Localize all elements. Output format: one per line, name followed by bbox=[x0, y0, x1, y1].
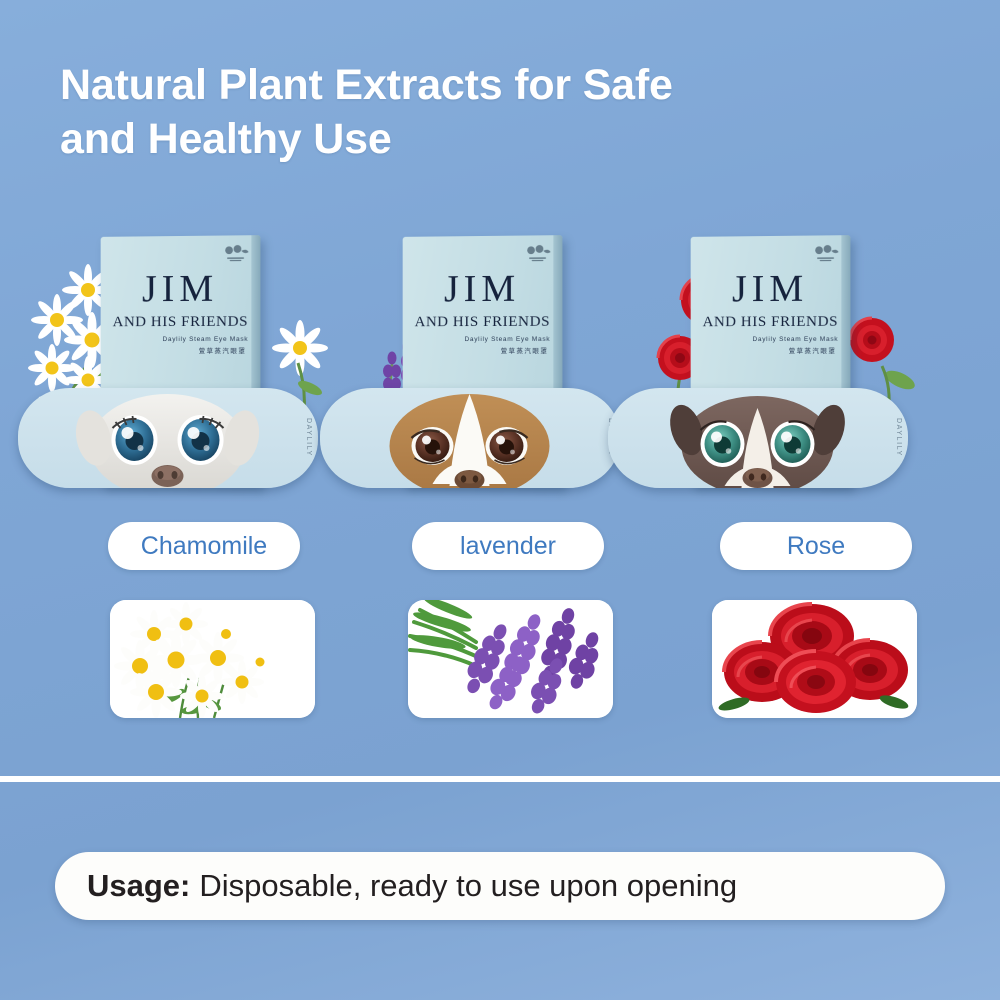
package-subtitle: AND HIS FRIENDS bbox=[101, 314, 261, 332]
ingredient-card-lavender bbox=[408, 600, 613, 718]
package-product-line-cn: 萱草蒸汽眼罩 bbox=[101, 345, 247, 355]
product-card-rose: JIM AND HIS FRIENDS Daylily Steam Eye Ma… bbox=[600, 228, 933, 528]
brown-shihtzu-icon bbox=[363, 388, 578, 488]
product-card-lavender: JIM AND HIS FRIENDS Daylily Steam Eye Ma… bbox=[312, 228, 645, 528]
scent-pill-label: Chamomile bbox=[141, 532, 267, 561]
daylily-logo-icon bbox=[813, 244, 839, 262]
usage-banner: Usage: Disposable, ready to use upon ope… bbox=[55, 852, 945, 920]
scent-label-row: Chamomile lavender Rose bbox=[0, 522, 1000, 574]
scent-pill-rose[interactable]: Rose bbox=[720, 522, 912, 570]
ingredient-card-rose bbox=[712, 600, 917, 718]
package-title: JIM bbox=[403, 269, 563, 308]
package-product-line-en: Daylily Steam Eye Mask bbox=[691, 336, 839, 343]
scent-pill-lavender[interactable]: lavender bbox=[412, 522, 604, 570]
usage-text: Disposable, ready to use upon opening bbox=[199, 868, 737, 904]
red-roses-photo bbox=[712, 600, 917, 718]
page-title: Natural Plant Extracts for Safe and Heal… bbox=[60, 58, 820, 166]
eye-mask-rose: DAYLILY bbox=[608, 388, 908, 488]
package-product-line-en: Daylily Steam Eye Mask bbox=[403, 336, 551, 343]
daylily-logo-icon bbox=[223, 244, 249, 262]
ingredient-card-chamomile bbox=[110, 600, 315, 718]
usage-label: Usage: bbox=[87, 868, 190, 904]
package-subtitle: AND HIS FRIENDS bbox=[403, 314, 563, 332]
package-title: JIM bbox=[101, 269, 261, 308]
product-row: JIM AND HIS FRIENDS Daylily Steam Eye Ma… bbox=[0, 228, 1000, 528]
eye-mask-lavender: DAYLILY bbox=[320, 388, 620, 488]
package-product-line-en: Daylily Steam Eye Mask bbox=[101, 336, 249, 343]
daylily-logo-icon bbox=[525, 244, 551, 262]
poster-background: Natural Plant Extracts for Safe and Heal… bbox=[0, 0, 1000, 1000]
white-puppy-blue-eyes-icon bbox=[61, 388, 276, 488]
eye-mask-chamomile: DAYLILY bbox=[18, 388, 318, 488]
product-card-chamomile: JIM AND HIS FRIENDS Daylily Steam Eye Ma… bbox=[10, 228, 343, 528]
lavender-flowers-photo bbox=[408, 600, 613, 718]
ingredient-photo-row bbox=[0, 600, 1000, 718]
dark-brown-puppy-teal-eyes-icon bbox=[651, 388, 866, 488]
package-subtitle: AND HIS FRIENDS bbox=[691, 314, 851, 332]
package-product-line-cn: 萱草蒸汽眼罩 bbox=[691, 345, 837, 355]
package-product-line-cn: 萱草蒸汽眼罩 bbox=[403, 345, 549, 355]
headline-line-1: Natural Plant Extracts for Safe bbox=[60, 58, 820, 112]
mask-side-text: DAYLILY bbox=[895, 418, 902, 457]
section-divider bbox=[0, 776, 1000, 782]
chamomile-flowers-photo bbox=[110, 600, 315, 718]
scent-pill-chamomile[interactable]: Chamomile bbox=[108, 522, 300, 570]
scent-pill-label: lavender bbox=[460, 532, 556, 561]
scent-pill-label: Rose bbox=[787, 532, 845, 561]
mask-side-text: DAYLILY bbox=[305, 418, 312, 457]
package-title: JIM bbox=[691, 269, 851, 308]
headline-line-2: and Healthy Use bbox=[60, 112, 820, 166]
